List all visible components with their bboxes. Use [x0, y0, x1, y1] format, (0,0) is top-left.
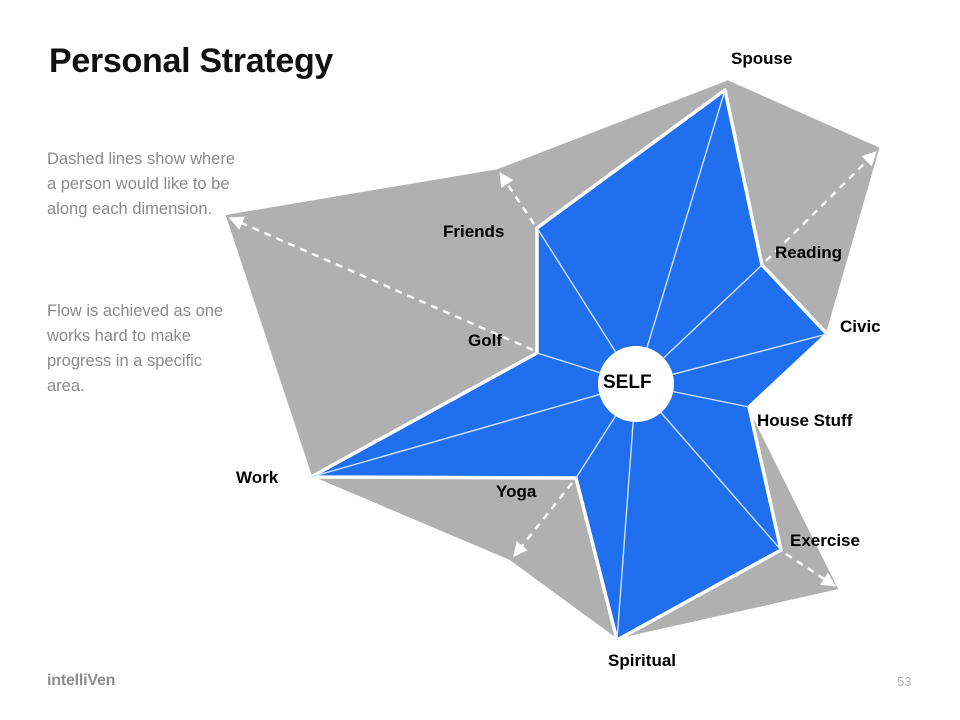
axis-label-friends: Friends	[443, 222, 504, 242]
axis-label-civic: Civic	[840, 317, 881, 337]
axis-label-golf: Golf	[468, 331, 502, 351]
page-number: 53	[897, 674, 911, 689]
note-paragraph-flow: Flow is achieved as one works hard to ma…	[47, 299, 243, 399]
page-title: Personal Strategy	[49, 42, 333, 81]
self-center-label: SELF	[603, 372, 652, 394]
axis-label-yoga: Yoga	[496, 482, 536, 502]
slide-canvas: Personal Strategy Dashed lines show wher…	[0, 0, 960, 720]
axis-label-spiritual: Spiritual	[608, 651, 676, 671]
axis-label-reading: Reading	[775, 243, 842, 263]
note-paragraph-dashed-lines: Dashed lines show where a person would l…	[47, 147, 243, 222]
axis-label-exercise: Exercise	[790, 531, 860, 551]
axis-label-work: Work	[236, 468, 278, 488]
intelliven-logo: intelliVen	[47, 672, 115, 690]
axis-label-house-stuff: House Stuff	[757, 411, 852, 431]
axis-label-spouse: Spouse	[731, 49, 792, 69]
